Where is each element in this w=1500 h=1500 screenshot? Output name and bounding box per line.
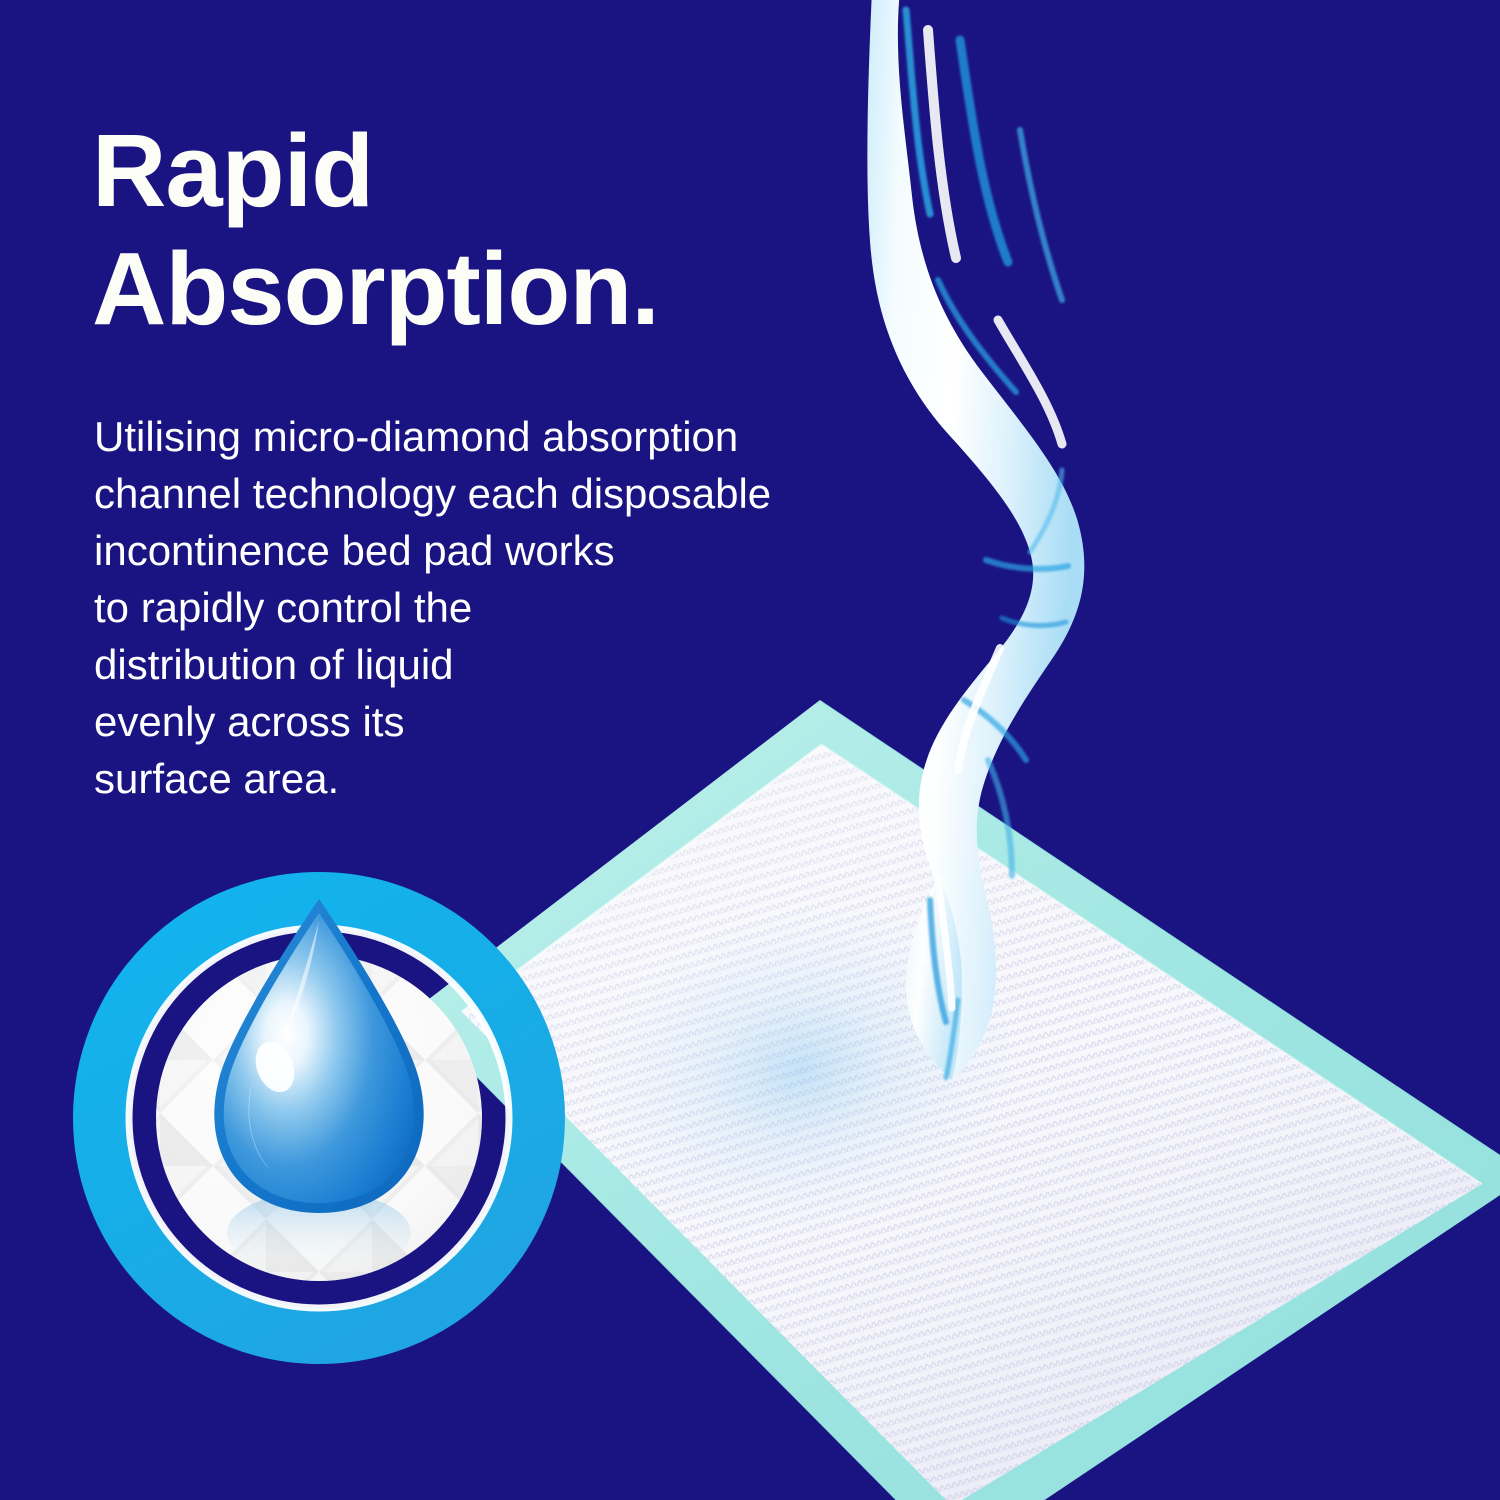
- product-feature-graphic: Rapid Absorption. Utilising micro-diamon…: [0, 0, 1500, 1500]
- absorption-badge: [95, 895, 543, 1345]
- page-title: Rapid Absorption.: [92, 112, 852, 348]
- description-text: Utilising micro-diamond absorption chann…: [94, 408, 934, 807]
